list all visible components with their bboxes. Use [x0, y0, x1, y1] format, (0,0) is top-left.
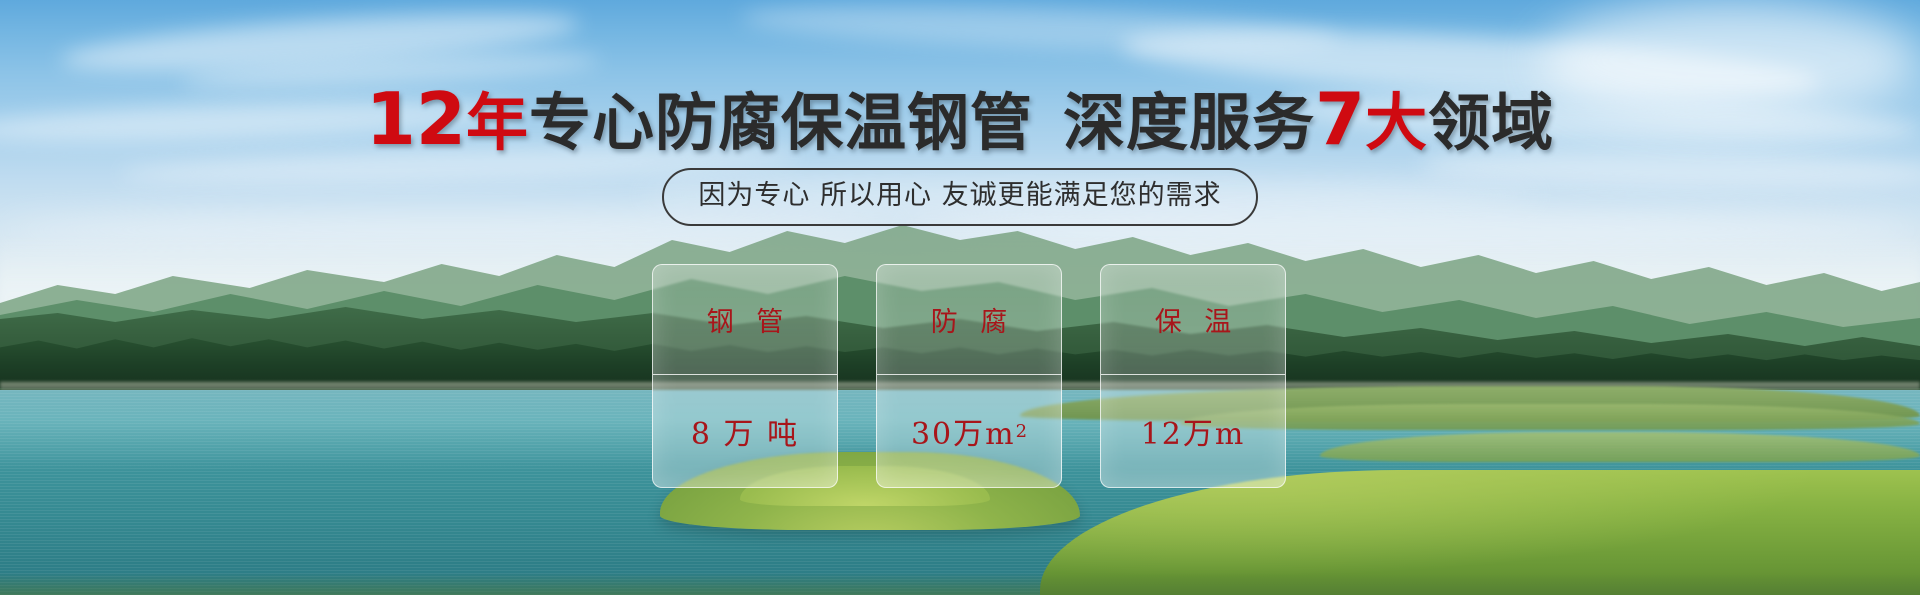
headline-part-two: 深度服务	[1063, 86, 1315, 159]
stat-card-title: 防 腐	[877, 265, 1061, 375]
marsh-bank-strip	[1180, 404, 1920, 430]
headline-fields-number: 7	[1315, 77, 1365, 161]
stat-card-insulation[interactable]: 保 温 12万m	[1100, 264, 1286, 488]
subtitle-container: 因为专心 所以用心 友诚更能满足您的需求	[0, 168, 1920, 226]
headline: 12年专心防腐保温钢管深度服务7大领域	[0, 84, 1920, 158]
headline-years-number: 12	[366, 77, 466, 161]
stat-card-group: 钢 管 8 万 吨 防 腐 30万m2 保 温 12万m	[652, 264, 1286, 488]
headline-years-unit: 年	[466, 86, 529, 159]
stat-card-value-superscript: 2	[1016, 421, 1027, 442]
foreground-grass-shadow	[0, 573, 1920, 595]
promo-banner: 12年专心防腐保温钢管深度服务7大领域 因为专心 所以用心 友诚更能满足您的需求…	[0, 0, 1920, 595]
headline-part-one: 专心防腐保温钢管	[529, 86, 1033, 159]
stat-card-anticorrosion[interactable]: 防 腐 30万m2	[876, 264, 1062, 488]
stat-card-value: 12万m	[1101, 375, 1285, 487]
stat-card-value: 8 万 吨	[653, 375, 837, 487]
stat-card-title: 保 温	[1101, 265, 1285, 375]
stat-card-value-text: 8 万 吨	[691, 409, 799, 453]
stat-card-value: 30万m2	[877, 375, 1061, 487]
headline-part-three: 领域	[1428, 86, 1554, 159]
stat-card-title: 钢 管	[653, 265, 837, 375]
stat-card-steel-pipe[interactable]: 钢 管 8 万 吨	[652, 264, 838, 488]
subtitle-pill: 因为专心 所以用心 友诚更能满足您的需求	[662, 168, 1257, 226]
headline-fields-word: 大	[1365, 86, 1428, 159]
stat-card-value-text: 12万m	[1141, 409, 1246, 453]
stat-card-value-text: 30万m	[911, 409, 1016, 453]
